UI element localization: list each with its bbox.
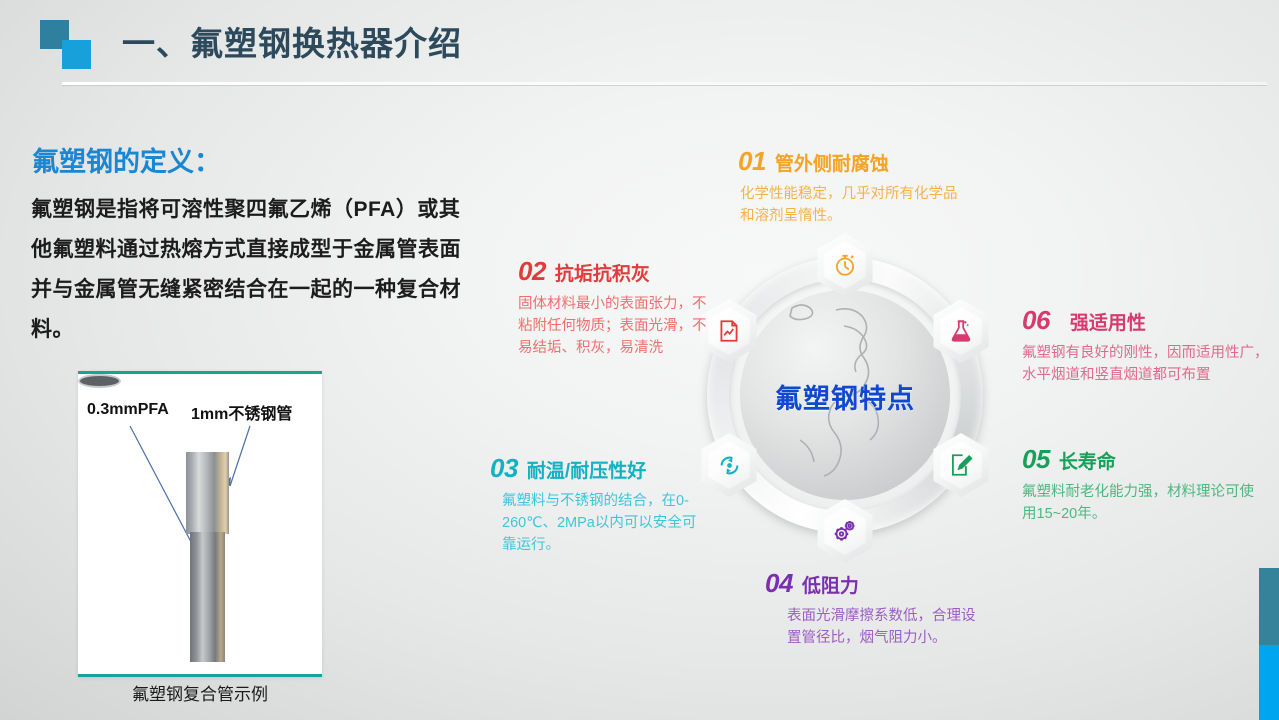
definition-heading: 氟塑钢的定义：	[32, 140, 221, 179]
center-label: 氟塑钢特点	[695, 377, 995, 416]
feature-head: 05长寿命	[1022, 446, 1257, 472]
pipe-lower-section	[190, 532, 225, 662]
feature-number: 04	[765, 568, 793, 598]
feature-body: 氟塑钢有良好的刚性，因而适用性广，水平烟道和竖直烟道都可布置	[1022, 342, 1272, 386]
feature-title: 低阻力	[802, 576, 859, 597]
center-infographic: 氟塑钢特点	[695, 245, 995, 545]
edit-document-icon	[948, 452, 974, 478]
feature-body: 表面光滑摩擦系数低，合理设置管径比，烟气阻力小。	[787, 605, 980, 649]
feature-body: 化学性能稳定，几乎对所有化学品和溶剂呈惰性。	[740, 183, 968, 227]
feature-title: 抗垢抗积灰	[555, 264, 650, 285]
feature-body: 固体材料最小的表面张力，不粘附任何物质；表面光滑，不易结垢、积灰，易清洗	[518, 293, 708, 359]
feature-body: 氟塑料与不锈钢的结合，在0-260℃、2MPa以内可以安全可靠运行。	[502, 490, 705, 556]
feature-number: 03	[490, 453, 518, 483]
feature-head: 01管外侧耐腐蚀	[738, 148, 968, 174]
feature-item-04: 04低阻力 表面光滑摩擦系数低，合理设置管径比，烟气阻力小。	[765, 570, 980, 649]
page-title: 一、氟塑钢换热器介绍	[122, 17, 462, 65]
chart-document-icon	[716, 318, 742, 344]
flask-icon	[948, 318, 974, 344]
decor-square-blue	[62, 40, 91, 69]
feature-title: 强适用性	[1070, 313, 1146, 334]
pipe-photo: 0.3mmPFA 1mm不锈钢管	[78, 374, 322, 668]
feature-item-06: 06强适用性 氟塑钢有良好的刚性，因而适用性广，水平烟道和竖直烟道都可布置	[1022, 307, 1272, 386]
feature-head: 04低阻力	[765, 570, 980, 596]
gears-icon	[831, 517, 859, 545]
feature-item-02: 02抗垢抗积灰 固体材料最小的表面张力，不粘附任何物质；表面光滑，不易结垢、积灰…	[518, 258, 708, 359]
feature-title: 耐温/耐压性好	[527, 461, 646, 482]
feature-head: 06强适用性	[1022, 307, 1272, 333]
slide-header: 一、氟塑钢换热器介绍	[0, 0, 1279, 92]
edge-accent-teal	[1259, 568, 1279, 645]
edge-accent-blue	[1259, 645, 1279, 720]
feature-number: 05	[1022, 444, 1050, 474]
definition-body: 氟塑钢是指将可溶性聚四氟乙烯（PFA）或其他氟塑料通过热熔方式直接成型于金属管表…	[31, 190, 477, 350]
stopwatch-icon	[832, 252, 858, 278]
photo-caption: 氟塑钢复合管示例	[78, 680, 322, 705]
pipe-upper-section	[186, 452, 229, 534]
feature-item-03: 03耐温/耐压性好 氟塑料与不锈钢的结合，在0-260℃、2MPa以内可以安全可…	[490, 455, 705, 556]
feature-number: 02	[518, 256, 546, 286]
feature-title: 长寿命	[1059, 452, 1116, 473]
title-divider	[62, 82, 1267, 85]
feature-number: 06	[1022, 305, 1050, 335]
refresh-cycle-icon	[716, 452, 743, 479]
feature-item-05: 05长寿命 氟塑料耐老化能力强，材料理论可使用15~20年。	[1022, 446, 1257, 525]
feature-item-01: 01管外侧耐腐蚀 化学性能稳定，几乎对所有化学品和溶剂呈惰性。	[738, 148, 968, 227]
pipe-photo-card: 0.3mmPFA 1mm不锈钢管	[78, 371, 322, 677]
feature-body: 氟塑料耐老化能力强，材料理论可使用15~20年。	[1022, 481, 1257, 525]
feature-head: 03耐温/耐压性好	[490, 455, 705, 481]
feature-number: 01	[738, 146, 766, 176]
feature-head: 02抗垢抗积灰	[518, 258, 708, 284]
feature-title: 管外侧耐腐蚀	[775, 154, 889, 175]
